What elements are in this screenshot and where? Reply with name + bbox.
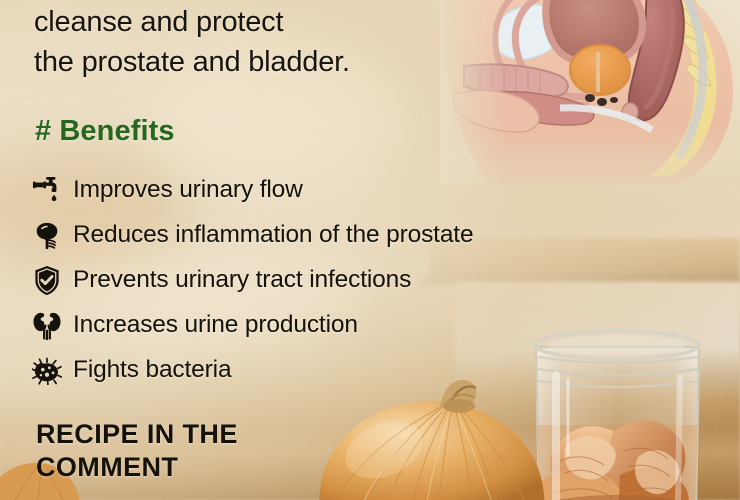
poster-canvas: cleanse and protect the prostate and bla… [0,0,740,500]
benefit-label: Increases urine production [73,313,358,338]
shield-check-icon [30,264,64,298]
cta-line-2: COMMENT [36,451,366,484]
headline-line-1: cleanse and protect [34,2,454,42]
headline-line-2: the prostate and bladder. [34,42,454,82]
benefits-list: Improves urinary flow Reduces inflammati… [30,168,670,393]
benefits-heading: # Benefits [35,115,175,148]
call-to-action: RECIPE IN THE COMMENT [36,418,366,484]
faucet-drip-icon [30,174,64,208]
benefit-item: Increases urine production [30,303,670,348]
benefit-item: Prevents urinary tract infections [30,258,670,303]
bladder-prostate-icon [30,219,64,253]
benefit-item: Reduces inflammation of the prostate [30,213,670,258]
kidneys-icon [30,309,64,343]
benefit-item: Improves urinary flow [30,168,670,213]
benefit-item: Fights bacteria [30,348,670,393]
benefit-label: Fights bacteria [73,358,231,383]
bacteria-icon [30,354,64,388]
benefit-label: Reduces inflammation of the prostate [73,223,473,248]
poster-text-content: cleanse and protect the prostate and bla… [0,0,740,500]
benefit-label: Improves urinary flow [73,178,303,203]
cta-line-1: RECIPE IN THE [36,418,366,451]
benefit-label: Prevents urinary tract infections [73,268,411,293]
headline: cleanse and protect the prostate and bla… [34,2,454,82]
